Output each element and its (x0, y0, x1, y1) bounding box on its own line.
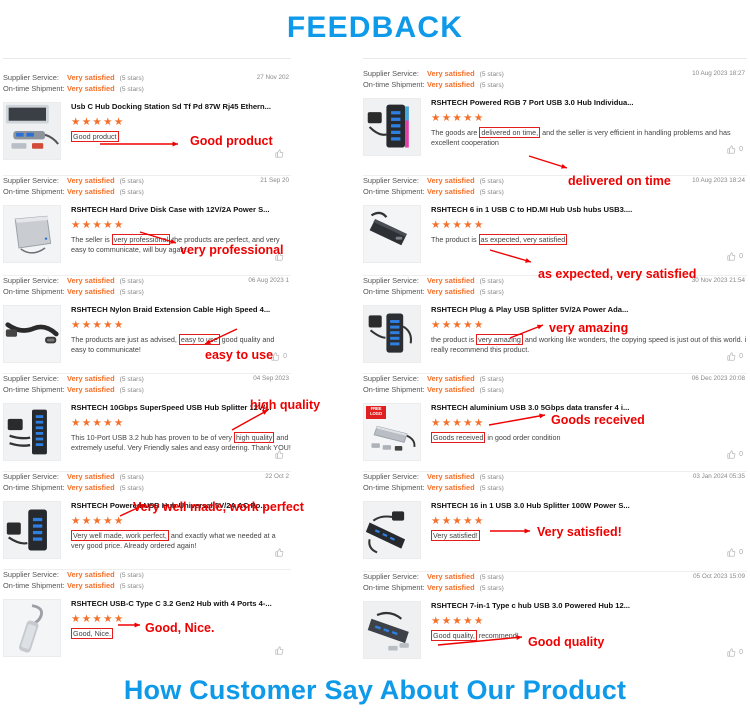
callout-annotation: Goods received (551, 413, 645, 427)
header-banner: FEEDBACK (0, 0, 750, 56)
review-item: Supplier Service:Very satisfied(5 stars)… (3, 569, 291, 665)
on-time-shipment-stars-note: (5 stars) (120, 289, 144, 298)
supplier-service-label: Supplier Service: (363, 69, 427, 79)
supplier-service-row: Supplier Service:Very satisfied(5 stars) (3, 374, 291, 385)
like-count: 0 (739, 649, 743, 656)
supplier-service-value: Very satisfied (67, 570, 115, 580)
review-comment: Goods received in good order condition (431, 432, 747, 443)
on-time-shipment-row: On-time Shipment:Very satisfied(5 stars) (363, 483, 747, 494)
thumbs-up-icon (727, 145, 736, 154)
review-content: RSHTECH 7-in-1 Type c hub USB 3.0 Powere… (431, 601, 747, 659)
product-thumbnail[interactable] (363, 205, 421, 263)
on-time-shipment-label: On-time Shipment: (3, 385, 67, 395)
callout-annotation: very amazing (549, 321, 628, 335)
comment-suffix: recommend! (477, 631, 519, 640)
helpful-like-button[interactable]: 0 (727, 352, 743, 361)
review-content: RSHTECH 6 in 1 USB C to HD.MI Hub Usb hu… (431, 205, 747, 263)
on-time-shipment-row: On-time Shipment:Very satisfied(5 stars) (3, 84, 291, 95)
supplier-service-label: Supplier Service: (3, 176, 67, 186)
on-time-shipment-value: Very satisfied (67, 581, 115, 591)
comment-suffix: in good order condition (485, 433, 560, 442)
comment-prefix: The product is (431, 235, 479, 244)
comment-highlight: delivered on time, (479, 127, 540, 138)
supplier-service-stars-note: (5 stars) (480, 376, 504, 385)
comment-highlight: Good, Nice. (71, 628, 113, 639)
helpful-like-button[interactable]: 0 (727, 450, 743, 459)
rating-stars-icon: ★★★★★ (71, 319, 291, 331)
review-item: 10 Aug 2023 18:24Supplier Service:Very s… (363, 175, 747, 273)
page-title: FEEDBACK (287, 11, 463, 45)
on-time-shipment-label: On-time Shipment: (3, 187, 67, 197)
on-time-shipment-label: On-time Shipment: (363, 80, 427, 90)
on-time-shipment-stars-note: (5 stars) (480, 289, 504, 298)
on-time-shipment-label: On-time Shipment: (363, 583, 427, 593)
supplier-service-stars-note: (5 stars) (120, 75, 144, 84)
on-time-shipment-label: On-time Shipment: (363, 187, 427, 197)
supplier-service-row: Supplier Service:Very satisfied(5 stars) (3, 472, 291, 483)
supplier-service-row: Supplier Service:Very satisfied(5 stars) (3, 570, 291, 581)
review-body: RSHTECH 7-in-1 Type c hub USB 3.0 Powere… (363, 601, 747, 659)
on-time-shipment-value: Very satisfied (67, 84, 115, 94)
supplier-service-label: Supplier Service: (363, 572, 427, 582)
review-content: Usb C Hub Docking Station Sd Tf Pd 87W R… (71, 102, 291, 160)
supplier-service-stars-note: (5 stars) (120, 278, 144, 287)
comment-highlight: Goods received (431, 432, 485, 443)
comment-highlight: high quality (234, 432, 274, 443)
on-time-shipment-value: Very satisfied (427, 287, 475, 297)
footer-banner: How Customer Say About Our Product (0, 663, 750, 717)
on-time-shipment-stars-note: (5 stars) (480, 585, 504, 594)
review-date: 06 Dec 2023 20:08 (692, 375, 745, 382)
like-count: 0 (283, 353, 287, 360)
callout-annotation: Very satisfied! (537, 525, 622, 539)
like-count: 0 (739, 451, 743, 458)
on-time-shipment-stars-note: (5 stars) (120, 387, 144, 396)
review-comment: the product is very amazing and working … (431, 334, 747, 355)
on-time-shipment-row: On-time Shipment:Very satisfied(5 stars) (363, 287, 747, 298)
review-item: 10 Aug 2023 18:27Supplier Service:Very s… (363, 69, 747, 167)
on-time-shipment-value: Very satisfied (67, 385, 115, 395)
helpful-like-button[interactable]: 0 (271, 352, 287, 361)
review-date: 30 Nov 2023 21:54 (692, 277, 745, 284)
on-time-shipment-value: Very satisfied (427, 583, 475, 593)
supplier-service-label: Supplier Service: (363, 374, 427, 384)
product-thumbnail[interactable] (363, 98, 421, 156)
rating-stars-icon: ★★★★★ (431, 219, 747, 231)
product-thumbnail[interactable] (3, 403, 61, 461)
review-comment: This 10-Port USB 3.2 hub has proven to b… (71, 432, 291, 453)
thumbs-up-icon (727, 252, 736, 261)
product-thumbnail[interactable] (3, 305, 61, 363)
supplier-service-stars-note: (5 stars) (120, 572, 144, 581)
thumbs-up-icon (275, 548, 284, 557)
rating-stars-icon: ★★★★★ (71, 515, 291, 527)
on-time-shipment-value: Very satisfied (67, 187, 115, 197)
callout-annotation: Good, Nice. (145, 621, 214, 635)
comment-highlight: Good product (71, 131, 119, 142)
comment-highlight: Very satisfied! (431, 530, 480, 541)
supplier-service-label: Supplier Service: (3, 472, 67, 482)
helpful-like-button[interactable]: 0 (727, 145, 743, 154)
rating-stars-icon: ★★★★★ (431, 112, 747, 124)
feedback-page: FEEDBACK 27 Nov 202Supplier Service:Very… (0, 0, 750, 717)
product-thumbnail[interactable] (3, 205, 61, 263)
callout-annotation: Good product (190, 134, 273, 148)
on-time-shipment-stars-note: (5 stars) (480, 189, 504, 198)
supplier-service-value: Very satisfied (427, 374, 475, 384)
on-time-shipment-row: On-time Shipment:Very satisfied(5 stars) (363, 583, 747, 594)
thumbs-up-icon (727, 450, 736, 459)
product-title[interactable]: RSHTECH Powered RGB 7 Port USB 3.0 Hub I… (431, 98, 747, 108)
supplier-service-row: Supplier Service:Very satisfied(5 stars) (363, 374, 747, 385)
on-time-shipment-row: On-time Shipment:Very satisfied(5 stars) (363, 80, 747, 91)
product-thumbnail[interactable] (3, 102, 61, 160)
on-time-shipment-row: On-time Shipment:Very satisfied(5 stars) (3, 385, 291, 396)
product-title[interactable]: RSHTECH 7-in-1 Type c hub USB 3.0 Powere… (431, 601, 747, 611)
rating-stars-icon: ★★★★★ (71, 116, 291, 128)
like-count: 0 (739, 549, 743, 556)
thumbs-up-icon (727, 352, 736, 361)
rating-stars-icon: ★★★★★ (431, 615, 747, 627)
review-body: RSHTECH 10Gbps SuperSpeed USB Hub Splitt… (3, 403, 291, 461)
product-title[interactable]: RSHTECH 6 in 1 USB C to HD.MI Hub Usb hu… (431, 205, 747, 215)
callout-annotation: high quality (250, 398, 320, 412)
on-time-shipment-label: On-time Shipment: (3, 581, 67, 591)
supplier-service-label: Supplier Service: (3, 276, 67, 286)
helpful-like-button[interactable] (275, 646, 287, 655)
supplier-service-value: Very satisfied (427, 69, 475, 79)
supplier-service-label: Supplier Service: (3, 570, 67, 580)
review-date: 03 Jan 2024 05:35 (693, 473, 745, 480)
product-thumbnail[interactable]: FREELOGO (363, 403, 421, 461)
helpful-like-button[interactable] (275, 450, 287, 459)
on-time-shipment-row: On-time Shipment:Very satisfied(5 stars) (3, 483, 291, 494)
supplier-service-value: Very satisfied (67, 472, 115, 482)
supplier-service-value: Very satisfied (427, 572, 475, 582)
review-date: 21 Sep 20 (260, 177, 289, 184)
review-item: 03 Jan 2024 05:35Supplier Service:Very s… (363, 471, 747, 569)
review-date: 27 Nov 202 (257, 74, 289, 81)
helpful-like-button[interactable]: 0 (727, 252, 743, 261)
on-time-shipment-row: On-time Shipment:Very satisfied(5 stars) (3, 187, 291, 198)
review-comment: The product is as expected, very satisfi… (431, 234, 747, 245)
review-date: 10 Aug 2023 18:24 (692, 177, 745, 184)
on-time-shipment-stars-note: (5 stars) (480, 387, 504, 396)
review-body: RSHTECH 6 in 1 USB C to HD.MI Hub Usb hu… (363, 205, 747, 263)
supplier-service-row: Supplier Service:Very satisfied(5 stars) (3, 73, 291, 84)
review-date: 06 Aug 2023 1 (248, 277, 289, 284)
on-time-shipment-row: On-time Shipment:Very satisfied(5 stars) (363, 187, 747, 198)
review-content: RSHTECH aluminium USB 3.0 5Gbps data tra… (431, 403, 747, 461)
supplier-service-value: Very satisfied (67, 73, 115, 83)
comment-highlight: easy to use (179, 334, 220, 345)
review-date: 22 Oct 2 (265, 473, 289, 480)
like-count: 0 (739, 353, 743, 360)
on-time-shipment-value: Very satisfied (67, 287, 115, 297)
supplier-service-stars-note: (5 stars) (480, 278, 504, 287)
review-date: 04 Sep 2023 (253, 375, 289, 382)
review-date: 05 Oct 2023 15:09 (693, 573, 745, 580)
comment-prefix: the product is (431, 335, 476, 344)
supplier-service-value: Very satisfied (67, 176, 115, 186)
review-date: 10 Aug 2023 18:27 (692, 70, 745, 77)
thumbs-up-icon (275, 646, 284, 655)
helpful-like-button[interactable]: 0 (727, 548, 743, 557)
supplier-service-value: Very satisfied (427, 472, 475, 482)
comment-highlight: as expected, very satisfied (479, 234, 568, 245)
product-title[interactable]: RSHTECH aluminium USB 3.0 5Gbps data tra… (431, 403, 747, 413)
on-time-shipment-label: On-time Shipment: (3, 287, 67, 297)
on-time-shipment-stars-note: (5 stars) (480, 485, 504, 494)
comment-prefix: The seller is (71, 235, 112, 244)
comment-highlight: Very well made, work perfect, (71, 530, 169, 541)
comment-prefix: This 10-Port USB 3.2 hub has proven to b… (71, 433, 234, 442)
review-body: RSHTECH Powered RGB 7 Port USB 3.0 Hub I… (363, 98, 747, 156)
review-item: 27 Nov 202Supplier Service:Very satisfie… (3, 73, 291, 169)
on-time-shipment-value: Very satisfied (427, 187, 475, 197)
on-time-shipment-stars-note: (5 stars) (480, 82, 504, 91)
supplier-service-row: Supplier Service:Very satisfied(5 stars) (3, 176, 291, 187)
supplier-service-value: Very satisfied (427, 276, 475, 286)
supplier-service-label: Supplier Service: (3, 374, 67, 384)
comment-prefix: The products are just as advised, (71, 335, 179, 344)
supplier-service-row: Supplier Service:Very satisfied(5 stars) (363, 572, 747, 583)
on-time-shipment-row: On-time Shipment:Very satisfied(5 stars) (363, 385, 747, 396)
on-time-shipment-value: Very satisfied (427, 483, 475, 493)
reviews-columns: 27 Nov 202Supplier Service:Very satisfie… (0, 58, 750, 658)
on-time-shipment-value: Very satisfied (67, 483, 115, 493)
thumbs-up-icon (275, 149, 284, 158)
supplier-service-row: Supplier Service:Very satisfied(5 stars) (363, 176, 747, 187)
thumbs-up-icon (727, 548, 736, 557)
product-title[interactable]: RSHTECH Nylon Braid Extension Cable High… (71, 305, 291, 315)
review-body: Usb C Hub Docking Station Sd Tf Pd 87W R… (3, 102, 291, 160)
on-time-shipment-label: On-time Shipment: (3, 84, 67, 94)
on-time-shipment-row: On-time Shipment:Very satisfied(5 stars) (3, 581, 291, 592)
product-thumbnail[interactable] (3, 501, 61, 559)
on-time-shipment-label: On-time Shipment: (363, 483, 427, 493)
review-content: RSHTECH Powered RGB 7 Port USB 3.0 Hub I… (431, 98, 747, 156)
product-title[interactable]: RSHTECH Plug & Play USB Splitter 5V/2A P… (431, 305, 747, 315)
on-time-shipment-value: Very satisfied (427, 80, 475, 90)
review-item: 22 Oct 2Supplier Service:Very satisfied(… (3, 471, 291, 567)
product-thumbnail[interactable] (363, 501, 421, 559)
on-time-shipment-stars-note: (5 stars) (120, 583, 144, 592)
product-title[interactable]: RSHTECH 16 in 1 USB 3.0 Hub Splitter 100… (431, 501, 747, 511)
supplier-service-row: Supplier Service:Very satisfied(5 stars) (363, 472, 747, 483)
comment-highlight: very professional (112, 234, 170, 245)
supplier-service-stars-note: (5 stars) (480, 71, 504, 80)
thumbs-up-icon (275, 450, 284, 459)
product-thumbnail[interactable] (3, 599, 61, 657)
helpful-like-button[interactable] (275, 149, 287, 158)
on-time-shipment-label: On-time Shipment: (363, 287, 427, 297)
review-item: 05 Oct 2023 15:09Supplier Service:Very s… (363, 571, 747, 669)
product-title[interactable]: RSHTECH Hard Drive Disk Case with 12V/2A… (71, 205, 291, 215)
supplier-service-value: Very satisfied (427, 176, 475, 186)
on-time-shipment-stars-note: (5 stars) (120, 86, 144, 95)
on-time-shipment-stars-note: (5 stars) (120, 189, 144, 198)
on-time-shipment-value: Very satisfied (427, 385, 475, 395)
free-logo-badge: FREELOGO (366, 406, 386, 419)
callout-annotation: as expected, very satisfied (538, 267, 696, 281)
on-time-shipment-row: On-time Shipment:Very satisfied(5 stars) (3, 287, 291, 298)
supplier-service-stars-note: (5 stars) (120, 474, 144, 483)
product-thumbnail[interactable] (363, 601, 421, 659)
supplier-service-stars-note: (5 stars) (480, 178, 504, 187)
supplier-service-label: Supplier Service: (363, 276, 427, 286)
callout-annotation: very professional (180, 243, 284, 257)
callout-annotation: Good quality (528, 635, 604, 649)
supplier-service-row: Supplier Service:Very satisfied(5 stars) (363, 69, 747, 80)
helpful-like-button[interactable] (275, 548, 287, 557)
callout-annotation: Very well made, work perfect (133, 500, 304, 514)
review-body: FREELOGORSHTECH aluminium USB 3.0 5Gbps … (363, 403, 747, 461)
footer-title: How Customer Say About Our Product (124, 675, 626, 706)
on-time-shipment-label: On-time Shipment: (363, 385, 427, 395)
on-time-shipment-stars-note: (5 stars) (120, 485, 144, 494)
supplier-service-stars-note: (5 stars) (120, 376, 144, 385)
supplier-service-stars-note: (5 stars) (120, 178, 144, 187)
supplier-service-value: Very satisfied (67, 374, 115, 384)
reviews-column-right: 10 Aug 2023 18:27Supplier Service:Very s… (363, 58, 747, 659)
supplier-service-stars-note: (5 stars) (480, 574, 504, 583)
like-count: 0 (739, 146, 743, 153)
on-time-shipment-label: On-time Shipment: (3, 483, 67, 493)
supplier-service-label: Supplier Service: (363, 472, 427, 482)
comment-highlight: Good quality, (431, 630, 477, 641)
comment-highlight: very amazing (476, 334, 523, 345)
helpful-like-button[interactable]: 0 (727, 648, 743, 657)
comment-prefix: The goods are (431, 128, 479, 137)
thumbs-up-icon (727, 648, 736, 657)
callout-annotation: easy to use (205, 348, 273, 362)
supplier-service-stars-note: (5 stars) (480, 474, 504, 483)
product-title[interactable]: RSHTECH USB-C Type C 3.2 Gen2 Hub with 4… (71, 599, 291, 609)
supplier-service-value: Very satisfied (67, 276, 115, 286)
like-count: 0 (739, 253, 743, 260)
supplier-service-label: Supplier Service: (3, 73, 67, 83)
product-thumbnail[interactable] (363, 305, 421, 363)
rating-stars-icon: ★★★★★ (71, 417, 291, 429)
product-title[interactable]: Usb C Hub Docking Station Sd Tf Pd 87W R… (71, 102, 291, 112)
review-comment: The goods are delivered on time, and the… (431, 127, 747, 148)
rating-stars-icon: ★★★★★ (71, 219, 291, 231)
review-item: 04 Sep 2023Supplier Service:Very satisfi… (3, 373, 291, 469)
callout-annotation: delivered on time (568, 174, 671, 188)
review-comment: Very well made, work perfect, and exactl… (71, 530, 291, 551)
supplier-service-label: Supplier Service: (363, 176, 427, 186)
